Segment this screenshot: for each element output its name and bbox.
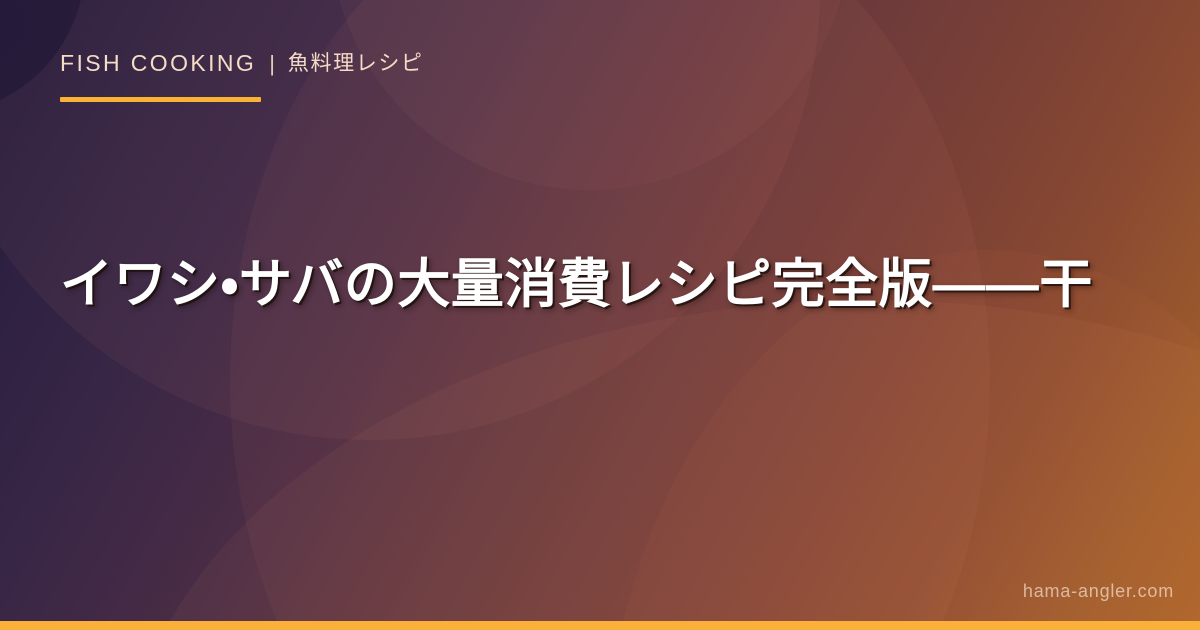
site-domain-watermark: hama-angler.com bbox=[1023, 582, 1174, 600]
page-title: イワシ・サバの大量消費レシピ完全版――干 bbox=[60, 250, 1140, 320]
kicker-japanese-label: 魚料理レシピ bbox=[288, 53, 424, 74]
kicker-block: FISH COOKING | 魚料理レシピ bbox=[60, 52, 424, 102]
kicker-underline-rule bbox=[60, 97, 261, 102]
ogp-card: FISH COOKING | 魚料理レシピ イワシ・サバの大量消費レシピ完全版―… bbox=[0, 0, 1200, 630]
bottom-accent-bar bbox=[0, 621, 1200, 630]
kicker-english-label: FISH COOKING bbox=[60, 52, 256, 75]
kicker: FISH COOKING | 魚料理レシピ bbox=[60, 52, 424, 75]
kicker-separator: | bbox=[269, 53, 275, 75]
